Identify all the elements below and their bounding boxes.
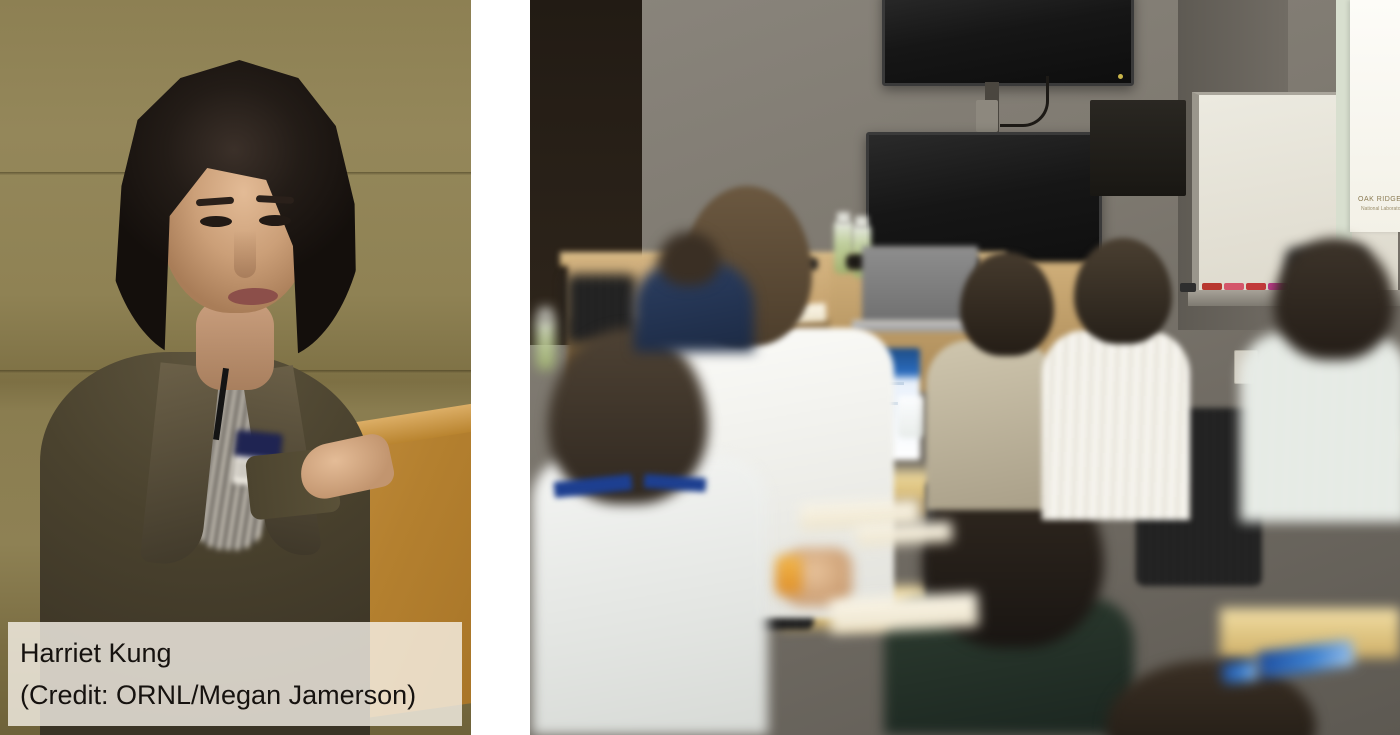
ornl-logo-subtext: National Laboratory [1361,206,1400,212]
photo-caption: Harriet Kung (Credit: ORNL/Megan Jamerso… [8,622,462,726]
audience-member-plaid-body [1240,332,1400,522]
marker-pink [1224,283,1244,290]
water-bottle-cap-1 [837,212,850,224]
water-glass [898,396,924,438]
wall-cable-plate [976,100,998,132]
caption-line-name: Harriet Kung [20,632,450,674]
workshop-classroom-photo: OAK RIDGE National Laboratory [530,0,1400,735]
blue-object-on-table-2 [1221,660,1259,684]
audience-member-white-check [1042,330,1190,520]
marker-red-2 [1246,283,1266,290]
marker-red [1202,283,1222,290]
ornl-logo-text: OAK RIDGE [1358,196,1400,203]
audience-member-tan-jacket [926,340,1056,510]
wall-mounted-monitor-top [882,0,1134,86]
water-bottle-cap-2 [855,216,868,228]
water-bottle-3 [536,318,555,370]
orange-drink [776,556,802,594]
eye-left [200,216,232,227]
audience-member-navy-far-head [658,232,720,286]
nose [234,230,256,278]
speaker-neck [196,300,274,390]
eraser [1180,283,1196,292]
eye-right [259,215,291,226]
harriet-kung-podium-photo: Harriet Kung (Credit: ORNL/Megan Jamerso… [0,0,471,735]
av-equipment-rack [1090,100,1186,196]
photo-pair-layout: Harriet Kung (Credit: ORNL/Megan Jamerso… [0,0,1400,735]
water-bottle-cap-3 [539,308,552,320]
caption-line-credit: (Credit: ORNL/Megan Jamerson) [20,674,450,716]
monitor-power-led [1118,74,1123,79]
